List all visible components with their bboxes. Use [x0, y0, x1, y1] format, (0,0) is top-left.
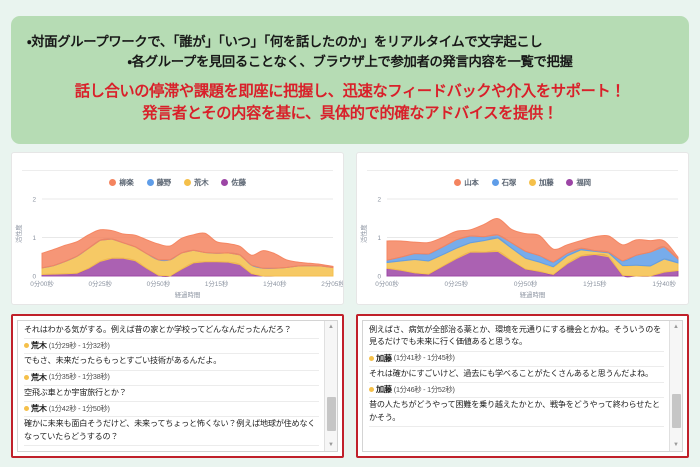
utterance-text: 確かに未来も面白そうだけど、未来ってちょっと怖くない？例えば地球が住めなくなって…	[24, 417, 319, 446]
utterance-timestamp: (1分41秒 - 1分45秒)	[394, 353, 455, 363]
y-axis-label-right: 活性度	[359, 225, 368, 243]
utterance-text: でもさ、未来だったらもっとすごい技術があるんだよ。	[24, 354, 319, 370]
legend-label: 藤野	[157, 177, 171, 188]
group-panel-left: 柳楽藤野荒木佐藤 0120分00秒0分25秒0分50秒1分15秒1分40秒2分0…	[11, 152, 344, 458]
transcript-highlight-right: 例えばさ、病気が全部治る薬とか、環境を元通りにする機会とかね。そういうのを見るだ…	[356, 314, 689, 458]
utterance-text: 昔の人たちがどうやって困難を乗り越えたかとか、戦争をどうやって終わらせたとかそう…	[369, 398, 664, 427]
legend-item[interactable]: 山本	[454, 177, 478, 188]
speaker-name: 加藤	[376, 384, 392, 395]
svg-text:0分00秒: 0分00秒	[375, 279, 399, 288]
svg-text:2分05秒: 2分05秒	[321, 279, 344, 288]
legend-item[interactable]: 加藤	[529, 177, 553, 188]
legend-label: 福岡	[576, 177, 590, 188]
transcript-scrollbar-right[interactable]: ▲ ▼	[669, 321, 682, 451]
svg-text:2: 2	[32, 197, 36, 204]
transcript-speaker-row: 加藤(1分41秒 - 1分45秒)	[369, 352, 664, 367]
transcript-box-left[interactable]: それはわかる気がする。例えば昔の家とか学校ってどんなんだったんだろ？荒木(1分2…	[17, 320, 338, 452]
svg-text:0分25秒: 0分25秒	[88, 279, 112, 288]
legend-label: 柳楽	[119, 177, 133, 188]
speaker-color-dot-icon	[24, 375, 29, 380]
legend-color-dot-icon	[566, 179, 573, 186]
summary-banner: ・対面グループワークで、「誰が」「いつ」「何を話したのか」をリアルタイムで文字起…	[11, 16, 689, 144]
chart-legend-right[interactable]: 山本石塚加藤福岡	[357, 177, 688, 188]
legend-item[interactable]: 福岡	[566, 177, 590, 188]
svg-text:0: 0	[32, 274, 36, 281]
screenshot-root: ・対面グループワークで、「誰が」「いつ」「何を話したのか」をリアルタイムで文字起…	[0, 0, 700, 467]
utterance-text: それはわかる気がする。例えば昔の家とか学校ってどんなんだったんだろ？	[24, 323, 319, 339]
svg-text:経過時間: 経過時間	[175, 290, 201, 299]
panels-container: 柳楽藤野荒木佐藤 0120分00秒0分25秒0分50秒1分15秒1分40秒2分0…	[11, 152, 689, 458]
card-divider	[367, 170, 678, 171]
scroll-up-icon[interactable]: ▲	[670, 321, 683, 333]
transcript-scrollbar-left[interactable]: ▲ ▼	[324, 321, 337, 451]
legend-label: 荒木	[194, 177, 208, 188]
scroll-up-icon[interactable]: ▲	[325, 321, 338, 333]
speaker-name: 荒木	[31, 340, 47, 351]
legend-label: 加藤	[539, 177, 553, 188]
speaker-color-dot-icon	[369, 387, 374, 392]
utterance-timestamp: (1分29秒 - 1分32秒)	[49, 341, 110, 351]
area-chart-svg: 0120分00秒0分25秒0分50秒1分15秒1分40秒2分05秒経過時間	[12, 191, 344, 305]
activity-chart-card-right: 山本石塚加藤福岡 0120分00秒0分25秒0分50秒1分15秒1分40秒経過時…	[356, 152, 689, 305]
scrollbar-thumb[interactable]	[672, 394, 681, 428]
utterance-timestamp: (1分35秒 - 1分38秒)	[49, 372, 110, 382]
y-axis-label-left: 活性度	[14, 225, 23, 243]
legend-color-dot-icon	[109, 179, 116, 186]
legend-item[interactable]: 佐藤	[221, 177, 245, 188]
activity-chart-card-left: 柳楽藤野荒木佐藤 0120分00秒0分25秒0分50秒1分15秒1分40秒2分0…	[11, 152, 344, 305]
transcript-list-left: それはわかる気がする。例えば昔の家とか学校ってどんなんだったんだろ？荒木(1分2…	[18, 321, 324, 451]
transcript-box-right[interactable]: 例えばさ、病気が全部治る薬とか、環境を元通りにする機会とかね。そういうのを見るだ…	[362, 320, 683, 452]
legend-color-dot-icon	[492, 179, 499, 186]
legend-label: 石塚	[502, 177, 516, 188]
legend-color-dot-icon	[529, 179, 536, 186]
banner-headline-2: 発言者とその内容を基に、具体的で的確なアドバイスを提供！	[142, 103, 557, 125]
legend-label: 山本	[464, 177, 478, 188]
scrollbar-thumb[interactable]	[327, 397, 336, 431]
svg-text:0分50秒: 0分50秒	[514, 279, 538, 288]
banner-bullet-1: ・対面グループワークで、「誰が」「いつ」「何を話したのか」をリアルタイムで文字起…	[27, 32, 542, 52]
svg-text:0分50秒: 0分50秒	[147, 279, 171, 288]
transcript-speaker-row: 加藤(1分46秒 - 1分52秒)	[369, 383, 664, 398]
legend-color-dot-icon	[184, 179, 191, 186]
card-divider	[22, 170, 333, 171]
legend-label: 佐藤	[231, 177, 245, 188]
scrollbar-track[interactable]	[325, 333, 338, 439]
transcript-speaker-row: 荒木(1分35秒 - 1分38秒)	[24, 371, 319, 386]
utterance-text: 空飛ぶ車とか宇宙旅行とか？	[24, 386, 319, 402]
speaker-name: 荒木	[31, 372, 47, 383]
legend-color-dot-icon	[147, 179, 154, 186]
svg-text:1分40秒: 1分40秒	[652, 279, 676, 288]
legend-color-dot-icon	[454, 179, 461, 186]
svg-text:1分15秒: 1分15秒	[205, 279, 229, 288]
legend-item[interactable]: 荒木	[184, 177, 208, 188]
svg-text:0: 0	[377, 274, 381, 281]
utterance-text: それは確かにすごいけど、過去にも学べることがたくさんあると思うんだよね。	[369, 367, 664, 383]
area-chart-svg: 0120分00秒0分25秒0分50秒1分15秒1分40秒経過時間	[357, 191, 689, 305]
transcript-list-right: 例えばさ、病気が全部治る薬とか、環境を元通りにする機会とかね。そういうのを見るだ…	[363, 321, 669, 451]
svg-text:0分25秒: 0分25秒	[445, 279, 469, 288]
chart-legend-left[interactable]: 柳楽藤野荒木佐藤	[12, 177, 343, 188]
svg-text:1: 1	[377, 235, 381, 242]
scrollbar-track[interactable]	[670, 333, 683, 439]
banner-headline-1: 話し合いの停滞や課題を即座に把握し、迅速なフィードバックや介入をサポート！	[75, 81, 626, 103]
speaker-color-dot-icon	[24, 343, 29, 348]
legend-item[interactable]: 藤野	[147, 177, 171, 188]
utterance-timestamp: (1分42秒 - 1分50秒)	[49, 404, 110, 414]
svg-text:経過時間: 経過時間	[520, 290, 546, 299]
speaker-name: 加藤	[376, 353, 392, 364]
svg-text:1分15秒: 1分15秒	[583, 279, 607, 288]
utterance-timestamp: (1分46秒 - 1分52秒)	[394, 385, 455, 395]
svg-text:2: 2	[377, 197, 381, 204]
svg-text:0分00秒: 0分00秒	[30, 279, 54, 288]
svg-text:1分40秒: 1分40秒	[263, 279, 287, 288]
transcript-highlight-left: それはわかる気がする。例えば昔の家とか学校ってどんなんだったんだろ？荒木(1分2…	[11, 314, 344, 458]
chart-plot-right: 0120分00秒0分25秒0分50秒1分15秒1分40秒経過時間 活性度	[357, 191, 689, 305]
chart-plot-left: 0120分00秒0分25秒0分50秒1分15秒1分40秒2分05秒経過時間 活性…	[12, 191, 344, 305]
utterance-text: 例えばさ、病気が全部治る薬とか、環境を元通りにする機会とかね。そういうのを見るだ…	[369, 323, 664, 352]
speaker-color-dot-icon	[24, 406, 29, 411]
legend-item[interactable]: 石塚	[492, 177, 516, 188]
speaker-name: 荒木	[31, 403, 47, 414]
transcript-speaker-row: 荒木(1分29秒 - 1分32秒)	[24, 339, 319, 354]
legend-color-dot-icon	[221, 179, 228, 186]
group-panel-right: 山本石塚加藤福岡 0120分00秒0分25秒0分50秒1分15秒1分40秒経過時…	[356, 152, 689, 458]
speaker-color-dot-icon	[369, 356, 374, 361]
svg-text:1: 1	[32, 235, 36, 242]
banner-bullet-2: ・各グループを見回ることなく、ブラウザ上で参加者の発言内容を一覧で把握	[128, 52, 573, 72]
scroll-down-icon[interactable]: ▼	[325, 439, 338, 451]
scroll-down-icon[interactable]: ▼	[670, 439, 683, 451]
legend-item[interactable]: 柳楽	[109, 177, 133, 188]
transcript-speaker-row: 荒木(1分42秒 - 1分50秒)	[24, 402, 319, 417]
